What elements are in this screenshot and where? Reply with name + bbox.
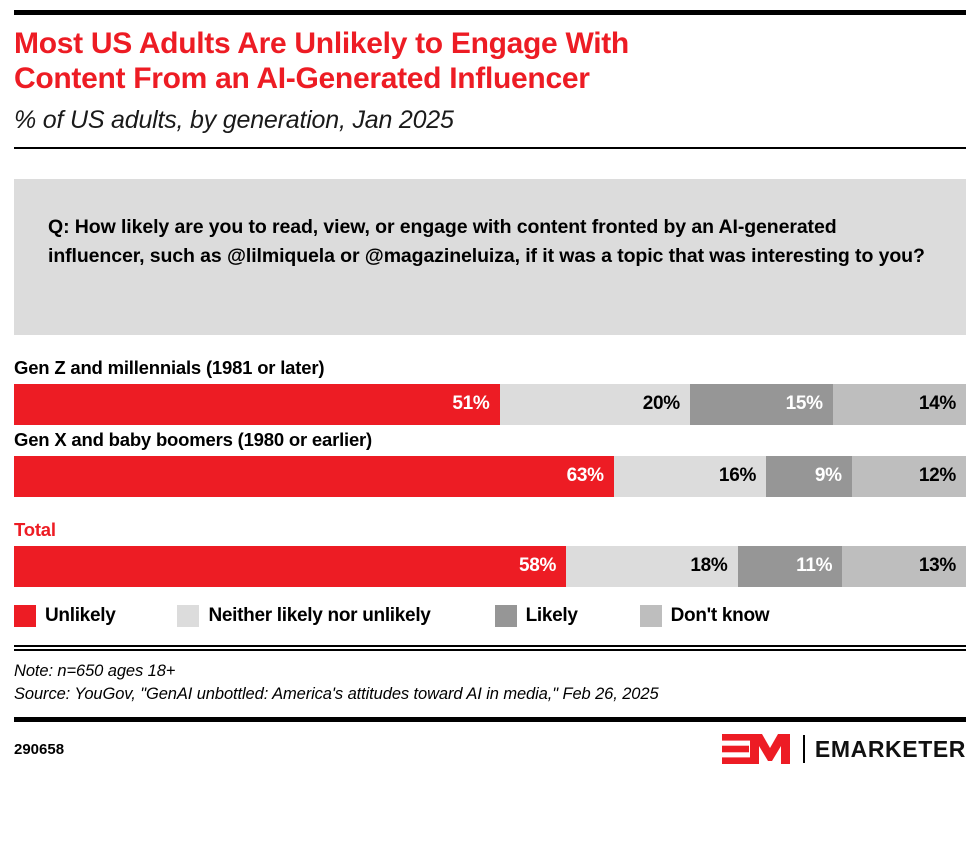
chart-row: Total58%18%11%13%: [14, 519, 966, 587]
chart-legend: UnlikelyNeither likely nor unlikelyLikel…: [14, 601, 966, 631]
chart-page: Most US Adults Are Unlikely to Engage Wi…: [0, 10, 980, 860]
logo-divider: [803, 735, 805, 763]
source-text: Source: YouGov, "GenAI unbottled: Americ…: [14, 683, 966, 706]
footer-rule-upper: [14, 645, 966, 647]
top-rule: [14, 10, 966, 15]
legend-item[interactable]: Don't know: [640, 605, 770, 627]
header-divider-rule: [14, 147, 966, 149]
bottom-rule: [14, 717, 966, 722]
legend-swatch-icon: [640, 605, 662, 627]
emarketer-logo: EMARKETER: [722, 734, 966, 764]
stacked-bar: 58%18%11%13%: [14, 546, 966, 587]
chart-row: Gen X and baby boomers (1980 or earlier)…: [14, 429, 966, 497]
chart-rows: Gen Z and millennials (1981 or later)51%…: [14, 357, 966, 587]
bar-segment: 12%: [852, 456, 966, 497]
stacked-bar: 51%20%15%14%: [14, 384, 966, 425]
em-monogram-icon: [722, 734, 794, 764]
legend-item[interactable]: Likely: [495, 605, 578, 627]
footer-rule-lower: [14, 649, 966, 651]
bar-segment: 51%: [14, 384, 500, 425]
bar-segment: 9%: [766, 456, 852, 497]
bar-segment: 63%: [14, 456, 614, 497]
row-label: Gen X and baby boomers (1980 or earlier): [14, 429, 966, 451]
bar-segment: 58%: [14, 546, 566, 587]
footer-bottom: 290658 EMARKETER: [14, 717, 966, 766]
page-title: Most US Adults Are Unlikely to Engage Wi…: [14, 27, 966, 97]
bar-segment: 13%: [842, 546, 966, 587]
bar-segment: 16%: [614, 456, 766, 497]
row-label: Gen Z and millennials (1981 or later): [14, 357, 966, 379]
footer-notes: Note: n=650 ages 18+ Source: YouGov, "Ge…: [14, 660, 966, 707]
stacked-bar: 63%16%9%12%: [14, 456, 966, 497]
legend-label: Likely: [526, 605, 578, 627]
legend-label: Unlikely: [45, 605, 115, 627]
bar-segment: 14%: [833, 384, 966, 425]
legend-swatch-icon: [495, 605, 517, 627]
id-bar: 290658 EMARKETER: [14, 732, 966, 766]
legend-item[interactable]: Neither likely nor unlikely: [177, 605, 430, 627]
row-label: Total: [14, 519, 966, 541]
question-callout: Q: How likely are you to read, view, or …: [14, 179, 966, 335]
footer-rules: [14, 645, 966, 651]
bar-segment: 18%: [566, 546, 737, 587]
bar-segment: 20%: [500, 384, 690, 425]
bar-segment: 11%: [738, 546, 843, 587]
stacked-bar-chart: Gen Z and millennials (1981 or later)51%…: [14, 357, 966, 631]
legend-swatch-icon: [14, 605, 36, 627]
note-text: Note: n=650 ages 18+: [14, 660, 966, 683]
chart-row: Gen Z and millennials (1981 or later)51%…: [14, 357, 966, 425]
legend-label: Don't know: [671, 605, 770, 627]
bar-segment: 15%: [690, 384, 833, 425]
legend-swatch-icon: [177, 605, 199, 627]
legend-label: Neither likely nor unlikely: [208, 605, 430, 627]
legend-item[interactable]: Unlikely: [14, 605, 115, 627]
logo-wordmark: EMARKETER: [815, 736, 966, 763]
question-text: Q: How likely are you to read, view, or …: [48, 213, 936, 272]
chart-id: 290658: [14, 741, 64, 758]
page-subtitle: % of US adults, by generation, Jan 2025: [14, 105, 966, 135]
